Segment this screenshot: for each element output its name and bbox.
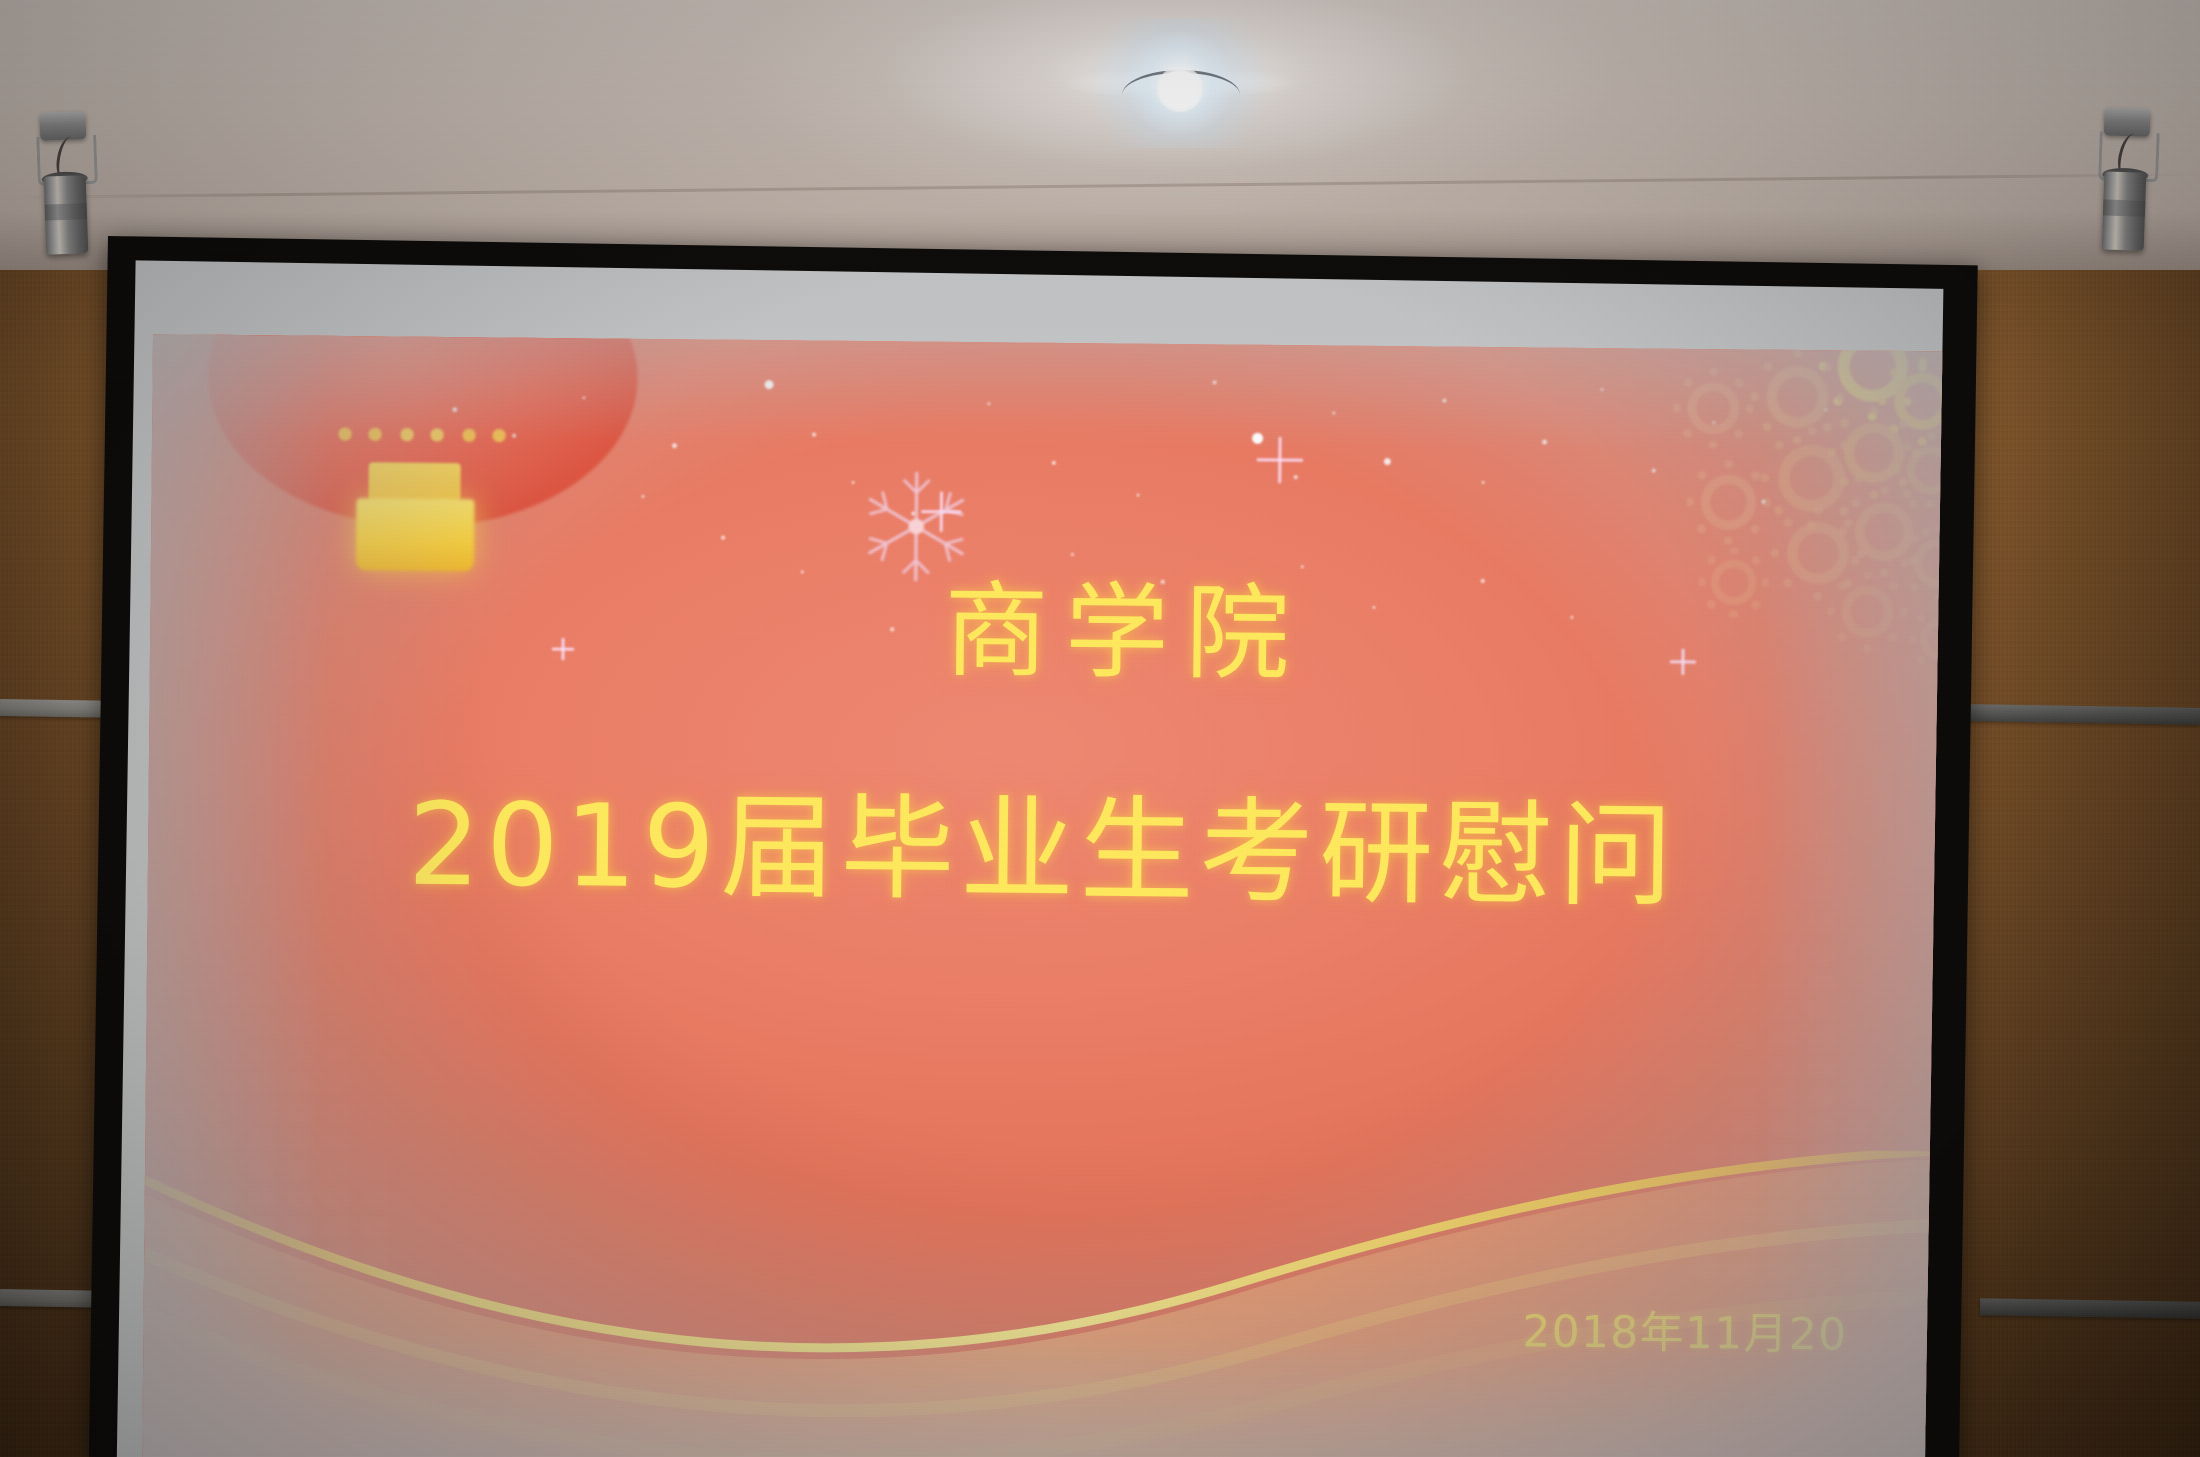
light-bulb: [1157, 66, 1203, 112]
ceiling-light-glare: [1060, 18, 1300, 148]
track-spotlight-right: [2087, 107, 2156, 259]
slide-date: 2018年11月20: [1522, 1295, 1848, 1362]
projected-slide: 商学院 2019届毕业生考研慰问 2018年11月20: [142, 334, 1943, 1457]
projection-screen-surface: 商学院 2019届毕业生考研慰问 2018年11月20: [117, 260, 1944, 1457]
slide-subtitle: 2019届毕业生考研慰问: [148, 784, 1939, 917]
slide-title: 商学院: [150, 570, 1941, 693]
projection-screen-frame: 商学院 2019届毕业生考研慰问 2018年11月20: [89, 236, 1978, 1457]
track-spotlight-left: [27, 111, 96, 263]
spotlight-band: [2103, 199, 2146, 216]
slide-text-block: 商学院 2019届毕业生考研慰问 2018年11月20: [142, 334, 1943, 1457]
screenshot-root: 商学院 2019届毕业生考研慰问 2018年11月20: [0, 0, 2200, 1457]
spotlight-band: [45, 203, 88, 220]
